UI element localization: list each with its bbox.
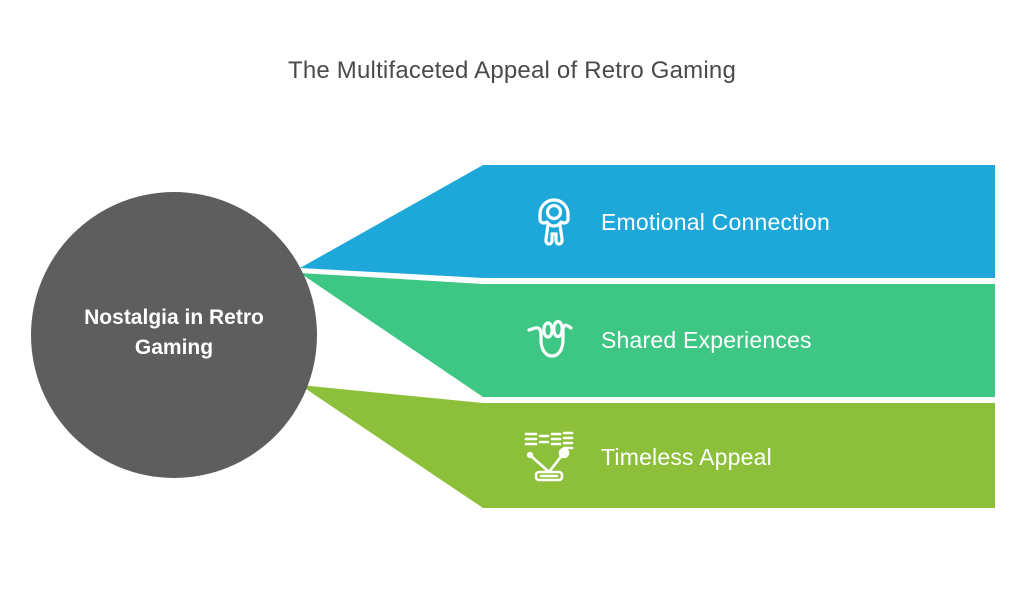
branch-label-timeless-appeal: Timeless Appeal [601,444,772,471]
cupped-hand-icon [521,310,583,372]
branch-label-shared-experiences: Shared Experiences [601,327,812,354]
dashes-vshape-icon [518,424,580,486]
infographic-canvas: The Multifaceted Appeal of Retro Gaming … [0,0,1024,614]
person-arms-out-icon [523,192,585,254]
branch-label-emotional-connection: Emotional Connection [601,209,830,236]
hub-label: Nostalgia in Retro Gaming [52,303,296,364]
